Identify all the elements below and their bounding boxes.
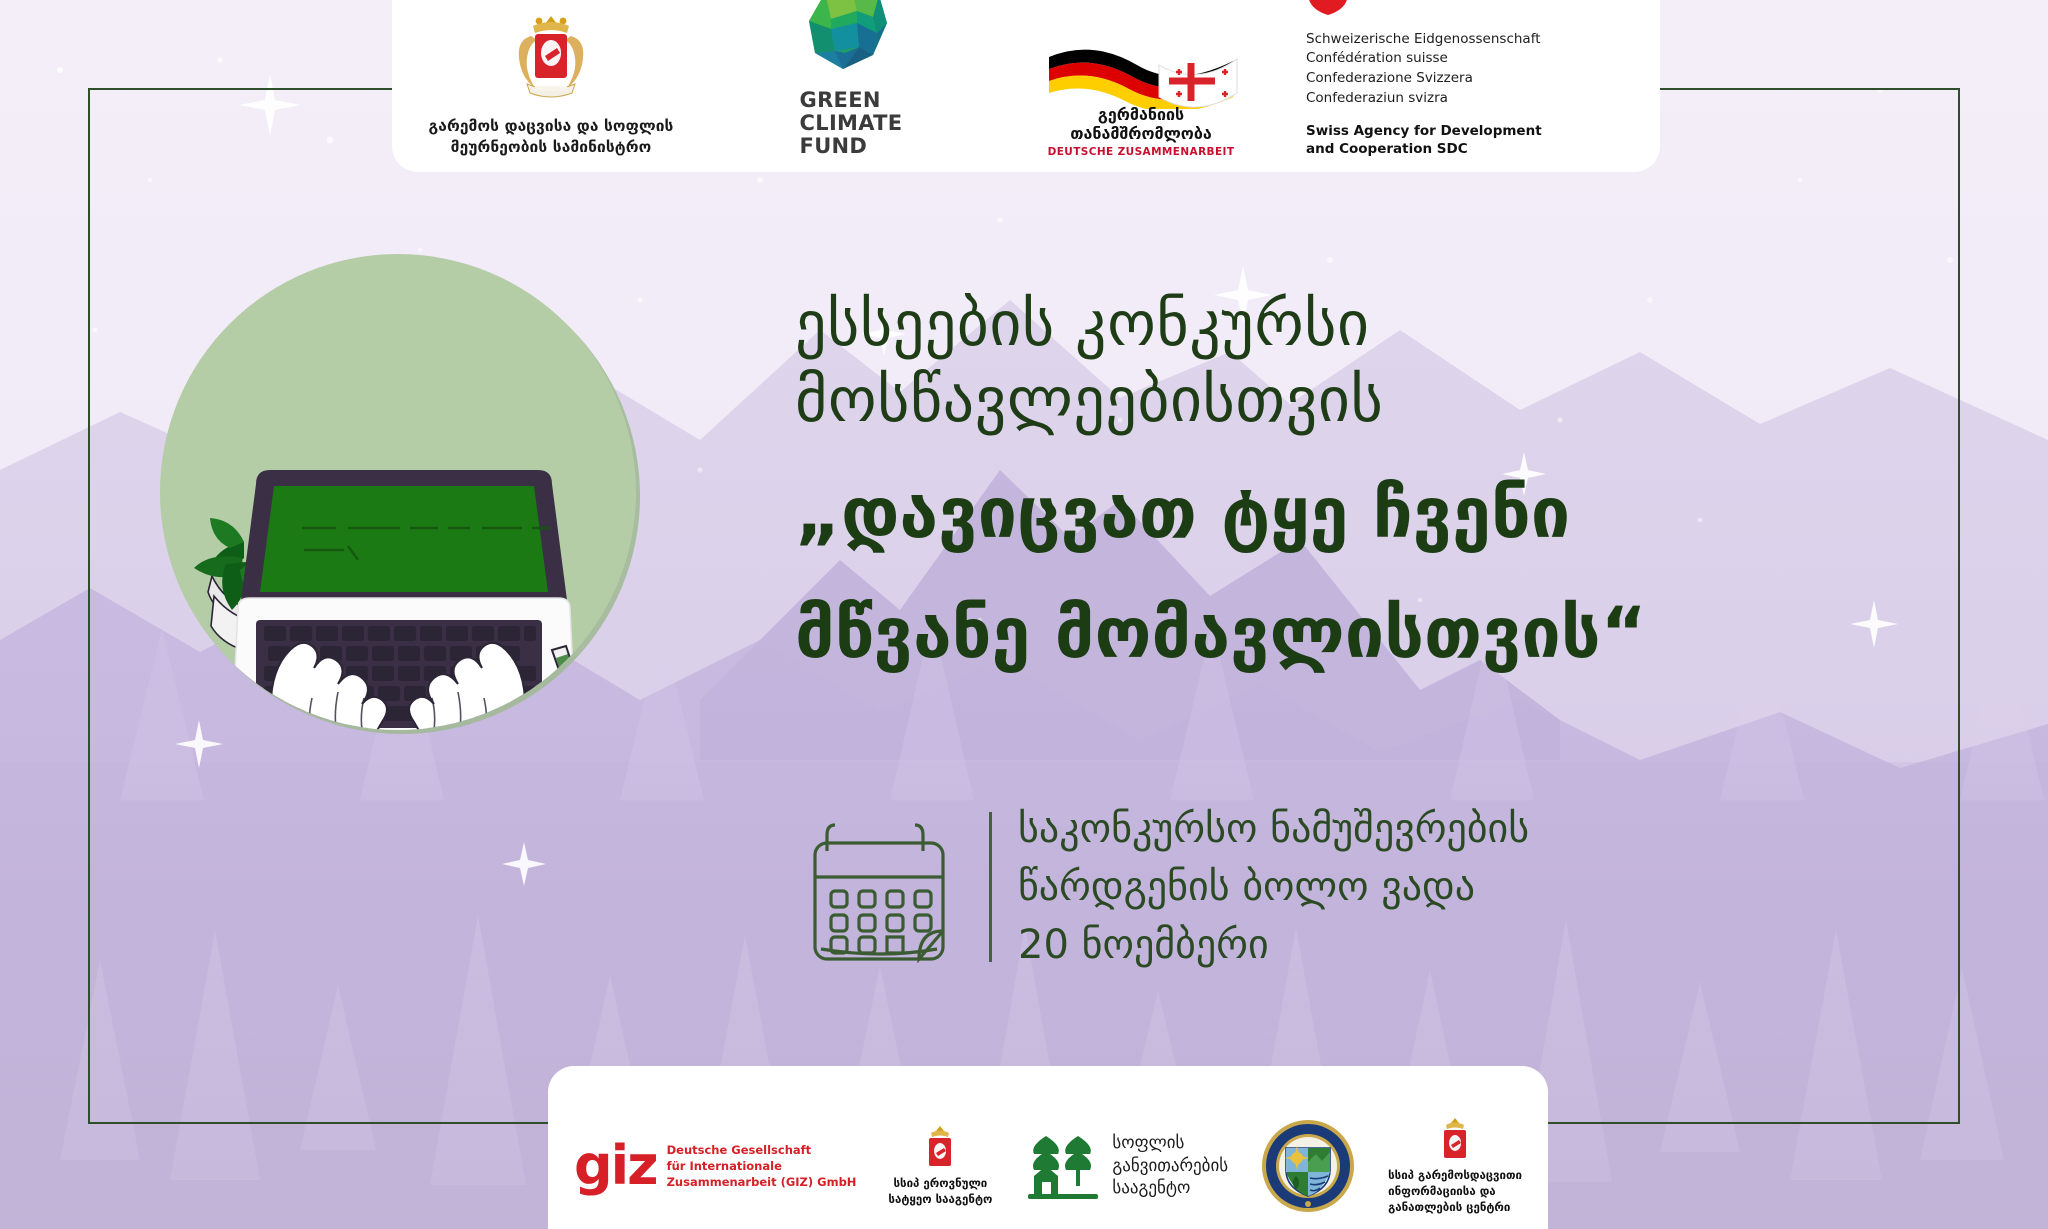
person-typing-on-laptop-illustration <box>152 246 644 738</box>
logo-environmental-information-and-education-centre: სსიპ გარემოსდაცვითი ინფორმაციისა და განა… <box>1388 1117 1522 1215</box>
georgia-small-crest-icon <box>923 1125 957 1169</box>
kicker-line-2: მოსწავლეებისთვის <box>795 362 1925 438</box>
logo-rural-development-agency: სოფლის განვითარების სააგენტო <box>1024 1130 1228 1202</box>
logo-german-cooperation: გერმანიის თანამშრომლობა DEUTSCHE ZUSAMME… <box>1026 35 1256 158</box>
eiec-name: სსიპ გარემოსდაცვითი ინფორმაციისა და განა… <box>1388 1167 1522 1215</box>
pencil <box>552 646 600 738</box>
banner-poster: გარემოს დაცვისა და სოფლის მეურნეობის სამ… <box>0 0 2048 1229</box>
deadline-line-2: წარდგენის ბოლო ვადა <box>1018 858 1529 916</box>
trees-house-icon <box>1024 1130 1102 1202</box>
gcf-polygon-globe-icon <box>801 0 901 77</box>
deadline-block: საკონკურსო ნამუშევრების წარდგენის ბოლო ვ… <box>795 800 1529 974</box>
kicker-line-1: ესსეების კონკურსი <box>795 286 1925 362</box>
headline-line-1: „დავიცვათ ტყე ჩვენი <box>795 471 1925 556</box>
header-logo-card: გარემოს დაცვისა და სოფლის მეურნეობის სამ… <box>392 0 1660 172</box>
sdc-agency-name: Swiss Agency for Development and Coopera… <box>1306 122 1542 158</box>
main-text-block: ესსეების კონკურსი მოსწავლეებისთვის „დავი… <box>795 286 1925 676</box>
calendar-icon <box>795 803 963 971</box>
logo-swiss-confederation: Schweizerische Eidgenossenschaft Confédé… <box>1306 0 1626 158</box>
laptop-screen <box>260 486 548 592</box>
logo-green-climate-fund: GREEN CLIMATE FUND <box>726 0 976 158</box>
giz-full-name: Deutsche Gesellschaft für Internationale… <box>667 1142 857 1191</box>
ministry-name: გარემოს დაცვისა და სოფლის მეურნეობის სამ… <box>429 116 674 158</box>
deutsche-zusammenarbeit-label: DEUTSCHE ZUSAMMENARBEIT <box>1048 146 1235 158</box>
germany-georgia-flag-ribbon-icon <box>1041 35 1241 109</box>
deadline-line-1: საკონკურსო ნამუშევრების <box>1018 800 1529 858</box>
logo-giz: giz Deutsche Gesellschaft für Internatio… <box>574 1142 856 1191</box>
giz-wordmark: giz <box>574 1144 657 1187</box>
rural-development-agency-name: სოფლის განვითარების სააგენტო <box>1112 1132 1228 1199</box>
logo-national-forestry-agency: სსიპ ეროვნული სატყეო სააგენტო <box>888 1125 992 1207</box>
deadline-text: საკონკურსო ნამუშევრების წარდგენის ბოლო ვ… <box>1018 800 1529 974</box>
georgia-small-crest-icon <box>1438 1117 1472 1161</box>
swiss-confederation-names: Schweizerische Eidgenossenschaft Confédé… <box>1306 30 1542 109</box>
swiss-shield-icon <box>1306 0 1350 17</box>
circular-agency-emblem-icon <box>1260 1118 1356 1214</box>
forestry-agency-name: სსიპ ეროვნული სატყეო სააგენტო <box>888 1175 992 1207</box>
footer-logo-card: giz Deutsche Gesellschaft für Internatio… <box>548 1066 1548 1229</box>
german-cooperation-georgian-text: გერმანიის თანამშრომლობა <box>1070 105 1211 143</box>
headline-line-2: მწვანე მომავლისთვის“ <box>795 591 1925 676</box>
deadline-line-3: 20 ნოემბერი <box>1018 916 1529 974</box>
georgia-coat-of-arms <box>505 12 597 108</box>
gcf-wordmark: GREEN CLIMATE FUND <box>800 89 903 158</box>
logo-protected-areas-agency <box>1260 1118 1356 1214</box>
deadline-divider <box>989 812 992 962</box>
logo-ministry-of-environment: გარემოს დაცვისა და სოფლის მეურნეობის სამ… <box>426 12 676 158</box>
